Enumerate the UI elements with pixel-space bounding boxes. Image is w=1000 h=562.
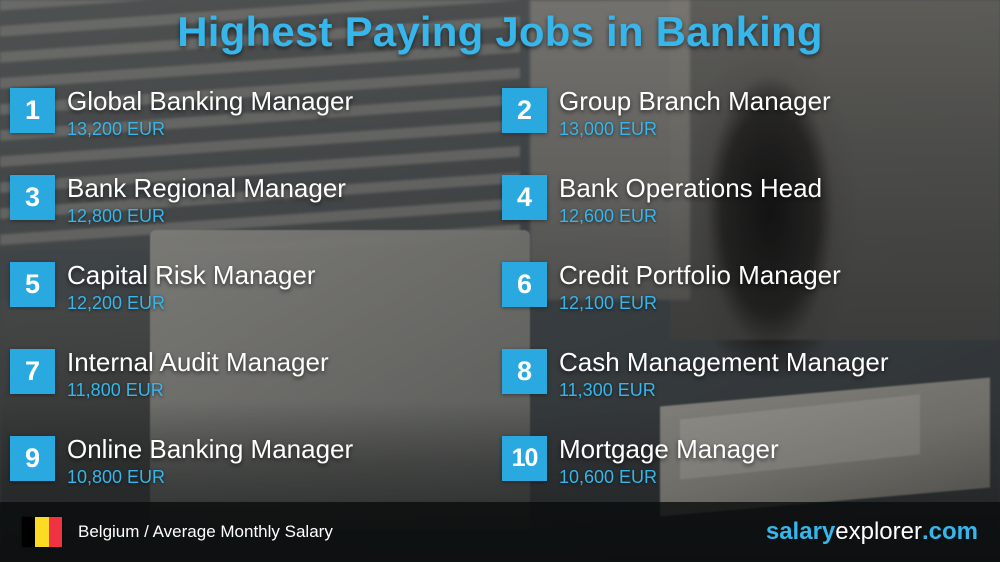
job-salary: 13,000 EUR: [559, 117, 831, 141]
job-title: Bank Regional Manager: [67, 173, 346, 203]
job-text: Mortgage Manager 10,600 EUR: [559, 434, 779, 489]
job-text: Cash Management Manager 11,300 EUR: [559, 347, 889, 402]
list-item: 1 Global Banking Manager 13,200 EUR: [10, 86, 502, 173]
rank-badge: 6: [502, 262, 547, 307]
job-salary: 12,100 EUR: [559, 291, 841, 315]
job-title: Mortgage Manager: [559, 434, 779, 464]
belgium-flag-icon: [22, 517, 62, 547]
list-item: 8 Cash Management Manager 11,300 EUR: [502, 347, 994, 434]
job-text: Capital Risk Manager 12,200 EUR: [67, 260, 316, 315]
list-item: 7 Internal Audit Manager 11,800 EUR: [10, 347, 502, 434]
list-item: 4 Bank Operations Head 12,600 EUR: [502, 173, 994, 260]
rank-badge: 3: [10, 175, 55, 220]
infographic-canvas: Highest Paying Jobs in Banking 1 Global …: [0, 0, 1000, 562]
list-item: 6 Credit Portfolio Manager 12,100 EUR: [502, 260, 994, 347]
rank-badge: 1: [10, 88, 55, 133]
job-salary: 12,800 EUR: [67, 204, 346, 228]
brand-part-salary: salary: [766, 518, 835, 545]
infographic-content: Highest Paying Jobs in Banking 1 Global …: [0, 0, 1000, 562]
rank-badge: 4: [502, 175, 547, 220]
list-item: 2 Group Branch Manager 13,000 EUR: [502, 86, 994, 173]
job-text: Credit Portfolio Manager 12,100 EUR: [559, 260, 841, 315]
job-salary: 11,300 EUR: [559, 378, 889, 402]
job-salary: 11,800 EUR: [67, 378, 329, 402]
flag-stripe-yellow: [35, 517, 48, 547]
brand-logo[interactable]: salaryexplorer.com: [766, 518, 978, 546]
job-salary: 12,600 EUR: [559, 204, 822, 228]
page-title: Highest Paying Jobs in Banking: [0, 8, 1000, 56]
job-salary: 13,200 EUR: [67, 117, 353, 141]
job-title: Capital Risk Manager: [67, 260, 316, 290]
job-title: Global Banking Manager: [67, 86, 353, 116]
job-salary: 10,600 EUR: [559, 465, 779, 489]
job-text: Global Banking Manager 13,200 EUR: [67, 86, 353, 141]
rank-badge: 2: [502, 88, 547, 133]
rank-badge: 10: [502, 436, 547, 481]
brand-part-domain: .com: [922, 518, 978, 545]
job-title: Internal Audit Manager: [67, 347, 329, 377]
rank-badge: 9: [10, 436, 55, 481]
job-text: Group Branch Manager 13,000 EUR: [559, 86, 831, 141]
job-text: Online Banking Manager 10,800 EUR: [67, 434, 353, 489]
flag-stripe-red: [49, 517, 62, 547]
rank-badge: 5: [10, 262, 55, 307]
jobs-list: 1 Global Banking Manager 13,200 EUR 2 Gr…: [10, 86, 994, 521]
list-item: 5 Capital Risk Manager 12,200 EUR: [10, 260, 502, 347]
flag-stripe-black: [22, 517, 35, 547]
job-title: Cash Management Manager: [559, 347, 889, 377]
job-salary: 12,200 EUR: [67, 291, 316, 315]
job-title: Online Banking Manager: [67, 434, 353, 464]
job-title: Group Branch Manager: [559, 86, 831, 116]
list-item: 3 Bank Regional Manager 12,800 EUR: [10, 173, 502, 260]
job-title: Bank Operations Head: [559, 173, 822, 203]
job-text: Internal Audit Manager 11,800 EUR: [67, 347, 329, 402]
brand-part-explorer: explorer: [835, 518, 922, 545]
country-label: Belgium / Average Monthly Salary: [78, 522, 333, 542]
rank-badge: 8: [502, 349, 547, 394]
job-text: Bank Regional Manager 12,800 EUR: [67, 173, 346, 228]
job-salary: 10,800 EUR: [67, 465, 353, 489]
footer-bar: Belgium / Average Monthly Salary salarye…: [0, 502, 1000, 562]
rank-badge: 7: [10, 349, 55, 394]
job-title: Credit Portfolio Manager: [559, 260, 841, 290]
job-text: Bank Operations Head 12,600 EUR: [559, 173, 822, 228]
